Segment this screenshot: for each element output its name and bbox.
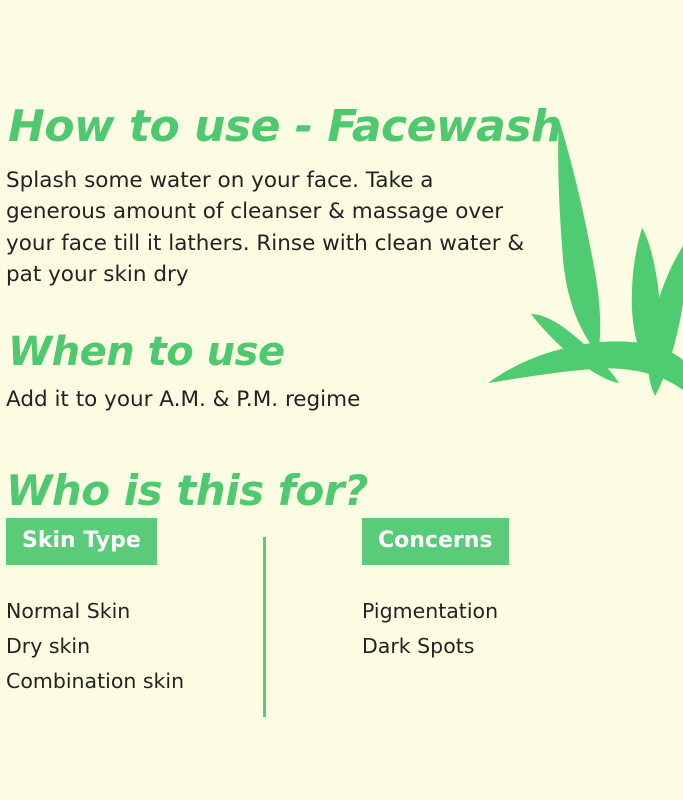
list-item: Combination skin: [6, 664, 184, 699]
status-badge-concerns: Concerns: [362, 518, 509, 565]
list-item: Dark Spots: [362, 629, 509, 664]
list-item: Pigmentation: [362, 594, 509, 629]
column-divider: [263, 537, 266, 717]
when-to-use-heading: When to use: [8, 332, 285, 372]
leaf-blade-5: [488, 341, 683, 390]
leaf-blade-2: [531, 314, 619, 383]
leaf-blade-3: [632, 228, 660, 373]
audience-columns: Skin Type Normal Skin Dry skin Combinati…: [0, 518, 683, 738]
when-to-use-body-text: Add it to your A.M. & P.M. regime: [6, 384, 360, 416]
product-info-panel: How to use - Facewash Splash some water …: [0, 0, 683, 800]
status-badge-skin-type: Skin Type: [6, 518, 157, 565]
skin-type-column: Skin Type Normal Skin Dry skin Combinati…: [6, 518, 184, 699]
concerns-column: Concerns Pigmentation Dark Spots: [362, 518, 509, 664]
list-item: Dry skin: [6, 629, 184, 664]
leaf-blade-1: [546, 118, 605, 357]
skin-type-list: Normal Skin Dry skin Combination skin: [6, 594, 184, 699]
list-item: Normal Skin: [6, 594, 184, 629]
concerns-list: Pigmentation Dark Spots: [362, 594, 509, 664]
leaf-blade-4: [648, 246, 683, 396]
who-is-this-for-heading: Who is this for?: [6, 470, 368, 512]
page-title: How to use - Facewash: [8, 105, 562, 149]
how-to-use-body-text: Splash some water on your face. Take a g…: [6, 165, 526, 291]
